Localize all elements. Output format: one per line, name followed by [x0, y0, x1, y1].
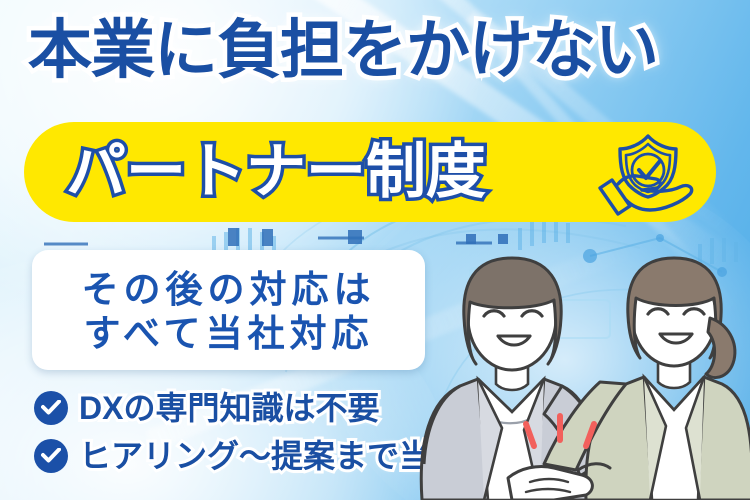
promo-banner: 本業に負担をかけない パートナー制度 その後の対応は すべて当社対応 DXの専門…	[0, 0, 750, 500]
page-headline: 本業に負担をかけない	[28, 18, 728, 82]
badge-label: パートナー制度	[66, 138, 486, 206]
check-circle-icon	[34, 391, 68, 425]
businesswomen-handshake-illustration	[404, 232, 750, 500]
check-circle-icon	[34, 439, 68, 473]
shield-check-on-hand-icon	[592, 130, 702, 216]
businesswoman-beige-suit-ponytail	[544, 258, 750, 500]
partner-program-badge: パートナー制度	[24, 122, 716, 222]
statement-line-2: すべて当社対応	[32, 312, 425, 356]
statement-box: その後の対応は すべて当社対応	[32, 250, 425, 370]
feature-bullet-label: DXの専門知識は不要	[79, 390, 379, 426]
feature-bullet-1: DXの専門知識は不要	[34, 390, 379, 426]
statement-line-1: その後の対応は	[32, 268, 425, 312]
